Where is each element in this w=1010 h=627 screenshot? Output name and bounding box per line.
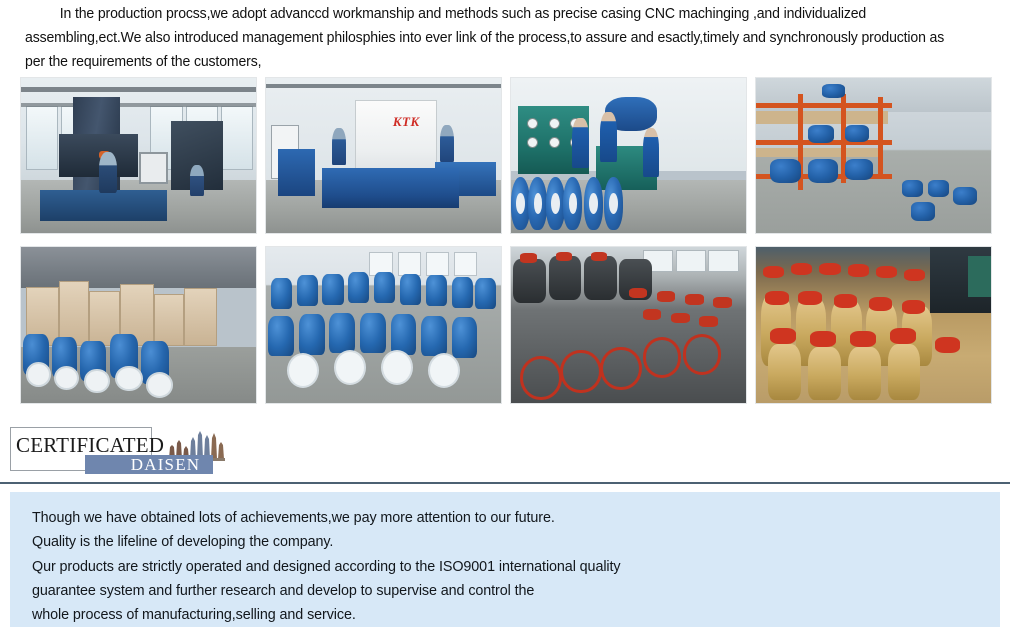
certificate-brand-name: DAISEN bbox=[118, 455, 213, 474]
photo-cnc-vertical-lathe[interactable] bbox=[20, 77, 257, 234]
factory-photo-grid: KTK bbox=[20, 77, 1000, 404]
photo-blue-valve-rows[interactable] bbox=[265, 246, 502, 404]
photo-warehouse-racking[interactable] bbox=[755, 77, 992, 234]
photo-ktk-cnc-machine[interactable]: KTK bbox=[265, 77, 502, 234]
photo-valve-test-bench[interactable] bbox=[510, 77, 747, 234]
quality-statement-panel: Though we have obtained lots of achievem… bbox=[10, 492, 1000, 627]
statement-line: Though we have obtained lots of achievem… bbox=[32, 506, 971, 530]
statement-line: whole process of manufacturing,selling a… bbox=[32, 603, 971, 627]
photo-brass-valves-red-wheels[interactable] bbox=[755, 246, 992, 404]
intro-paragraph: In the production procss,we adopt advanc… bbox=[25, 2, 953, 75]
statement-line: Quality is the lifeline of developing th… bbox=[32, 530, 971, 554]
section-divider bbox=[0, 482, 1010, 484]
statement-line: Qur products are strictly operated and d… bbox=[32, 555, 971, 579]
statement-line: guarantee system and further research an… bbox=[32, 579, 971, 603]
certificate-logo: CERTIFICATED DAISEN bbox=[10, 427, 225, 475]
photo-gate-valves-cartons[interactable] bbox=[20, 246, 257, 404]
machine-brand-label: KTK bbox=[393, 114, 420, 130]
photo-dark-valves-red-wheels[interactable] bbox=[510, 246, 747, 404]
